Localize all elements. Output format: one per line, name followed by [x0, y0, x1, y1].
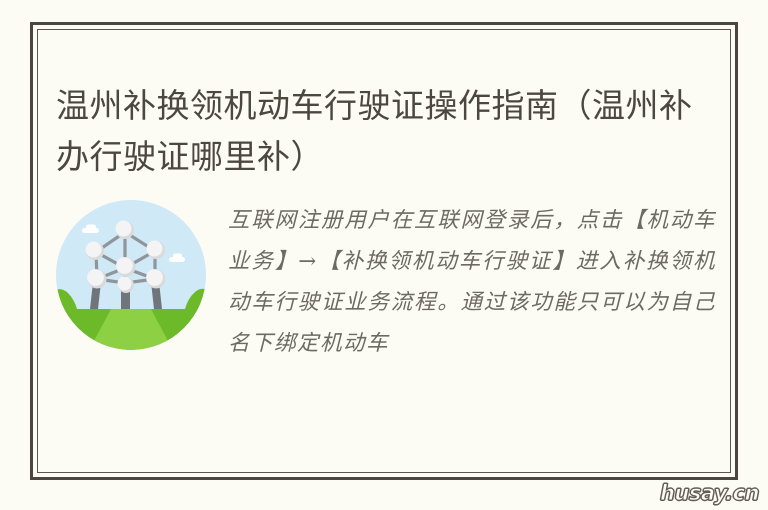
- article-content: 温州补换领机动车行驶证操作指南（温州补办行驶证哪里补）: [38, 30, 730, 472]
- site-watermark: husay.cn: [660, 481, 759, 505]
- article-thumbnail: [56, 200, 206, 350]
- article-body-row: 互联网注册用户在互联网登录后，点击【机动车业务】→【补换领机动车行驶证】进入补换…: [56, 200, 716, 364]
- page-title: 温州补换领机动车行驶证操作指南（温州补办行驶证哪里补）: [56, 80, 696, 182]
- article-body-text: 互联网注册用户在互联网登录后，点击【机动车业务】→【补换领机动车行驶证】进入补换…: [228, 200, 716, 364]
